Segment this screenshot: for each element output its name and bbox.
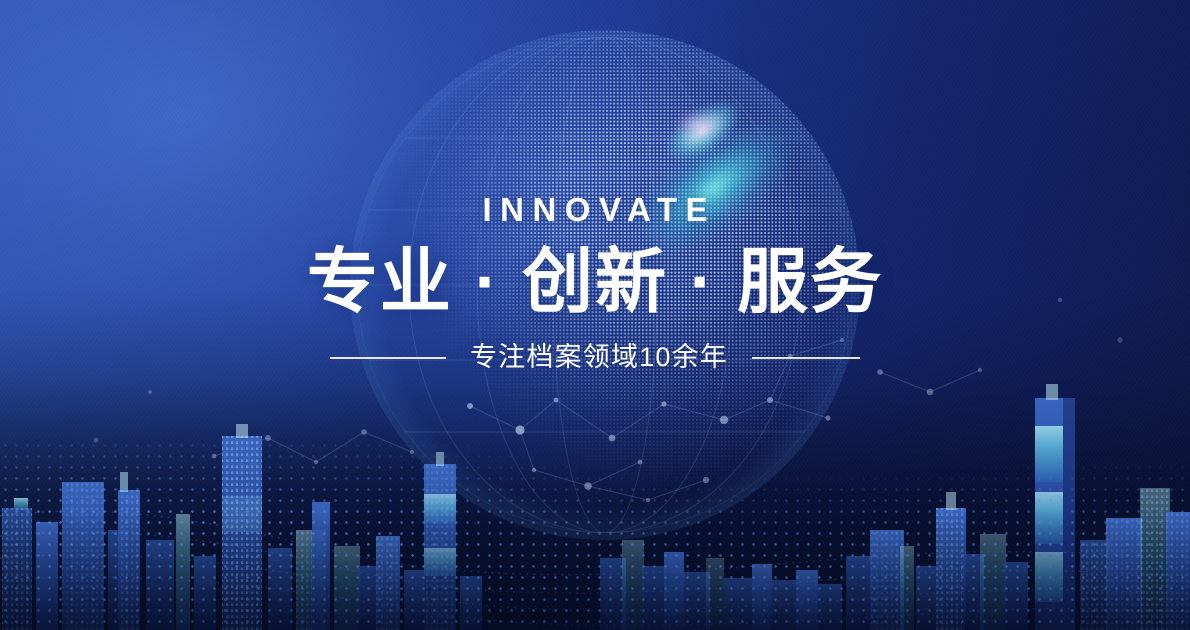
subtitle-row: 专注档案领域10余年 (330, 344, 860, 371)
subtitle-text: 专注档案领域10余年 (470, 344, 728, 371)
hero-banner: INNOVATE 专业 · 创新 · 服务 专注档案领域10余年 (0, 0, 1190, 630)
hero-content: INNOVATE 专业 · 创新 · 服务 专注档案领域10余年 (0, 0, 1190, 630)
page-title: 专业 · 创新 · 服务 (307, 247, 883, 318)
subtitle-rule-right (752, 357, 860, 359)
subtitle-rule-left (330, 357, 446, 359)
eyebrow-text: INNOVATE (474, 193, 716, 226)
